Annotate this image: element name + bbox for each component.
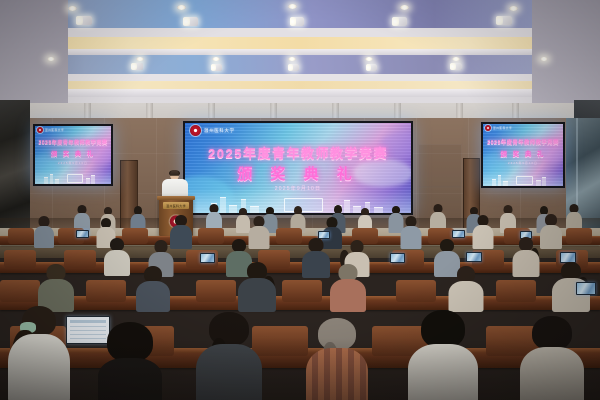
ceiling-downlight: [47, 57, 55, 61]
chair-back: [496, 280, 536, 302]
chair-back: [396, 280, 436, 302]
desk-monitor[interactable]: [576, 282, 596, 295]
ceiling-spotlight: [183, 17, 198, 26]
ceiling: [0, 0, 600, 118]
ceiling-spotlight: [290, 17, 304, 26]
desk-monitor[interactable]: [452, 230, 465, 238]
chair-back: [8, 228, 34, 244]
desk-monitor[interactable]: [466, 252, 482, 262]
ceiling-spotlight: [288, 64, 299, 71]
left-led-screen: 温州医科大学 2025年度青年教师教学竞赛 颁 奖 典 礼 2025年9月10日: [33, 124, 113, 186]
ceiling-spotlight: [392, 17, 407, 26]
chair-back: [0, 280, 40, 302]
chair-back: [4, 250, 36, 268]
ceiling-spotlight: [496, 16, 512, 25]
stone-pillar-left: [0, 100, 30, 230]
main-led-screen: 温州医科大学 2025年度青年教师教学竞赛 颁 奖 典 礼 2025年9月10日: [183, 121, 413, 215]
chair-back: [196, 280, 236, 302]
ceiling-spotlight: [211, 64, 222, 71]
chair-back: [86, 280, 126, 302]
ceiling-downlight: [452, 57, 460, 61]
ceiling-downlight: [212, 57, 220, 61]
podium-top: [157, 196, 195, 200]
desk-monitor[interactable]: [200, 253, 215, 263]
ceiling-spotlight: [450, 63, 462, 70]
ceiling-downlight: [400, 5, 409, 10]
ceiling-downlight: [136, 57, 144, 61]
desk-monitor[interactable]: [76, 230, 89, 238]
podium-nameplate: 温州医科大学: [163, 202, 189, 209]
ceiling-downlight: [540, 57, 548, 61]
chair-back: [198, 228, 224, 244]
ceiling-spotlight: [131, 63, 143, 70]
right-led-screen: 温州医科大学 2025年度青年教师教学竞赛 颁 奖 典 礼 2025年9月10日: [481, 122, 565, 188]
ceiling-spotlight: [76, 16, 92, 25]
ceiling-downlight: [365, 57, 373, 61]
chair-back: [566, 228, 592, 244]
wall-panel: [418, 144, 462, 188]
ceiling-downlight: [288, 4, 297, 9]
auditorium-photo: 温州医科大学 2025年度青年教师教学竞赛 颁 奖 典 礼 2025年9月10日…: [0, 0, 600, 400]
ceiling-downlight: [177, 5, 186, 10]
chair-back: [276, 228, 302, 244]
ceiling-downlight: [509, 6, 518, 11]
podium-nameplate-text: 温州医科大学: [166, 204, 186, 208]
ceiling-spotlight: [366, 64, 377, 71]
ceiling-downlight: [288, 57, 296, 61]
ceiling-downlight: [68, 6, 77, 11]
chair-back: [282, 280, 322, 302]
desk-monitor[interactable]: [390, 253, 405, 263]
